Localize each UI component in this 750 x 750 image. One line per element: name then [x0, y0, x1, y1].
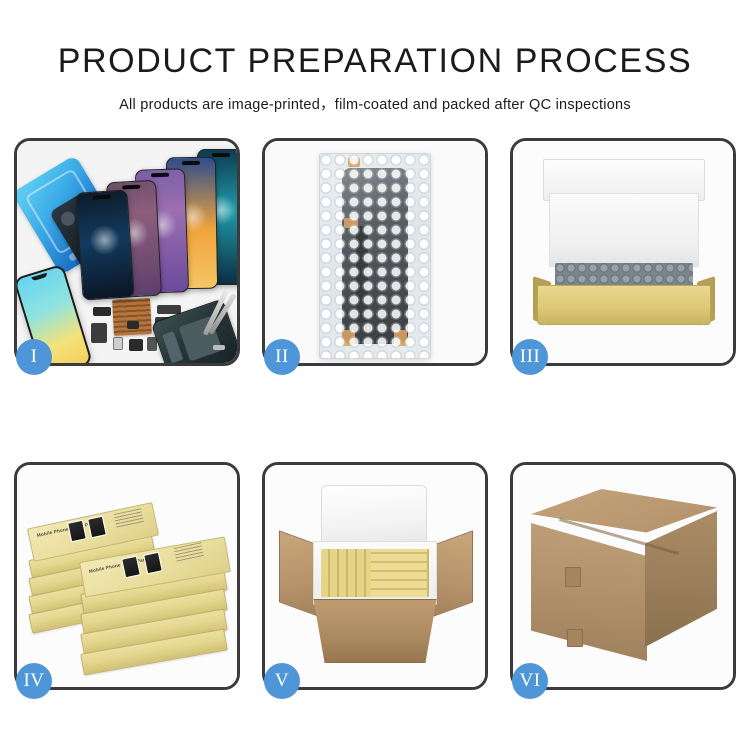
step-panel-6: VI [510, 462, 736, 690]
process-step-grid: I II [14, 138, 736, 690]
page-subtitle: All products are image-printed，film-coat… [0, 93, 750, 114]
step-3-image [513, 141, 733, 363]
step-5-image [265, 465, 485, 687]
step-panel-3: III [510, 138, 736, 366]
step-badge-2: II [264, 339, 300, 375]
box-stack: Mobile Phone Spare Parts Mobile Phone Sp… [25, 489, 231, 671]
stacked-retail-boxes-illustration: Mobile Phone Spare Parts Mobile Phone Sp… [17, 465, 237, 687]
step-badge-1: I [16, 339, 52, 375]
step-4-image: Mobile Phone Spare Parts Mobile Phone Sp… [17, 465, 237, 687]
step-badge-5: V [264, 663, 300, 699]
sealed-carton-illustration [513, 465, 733, 687]
tape-icon-3 [342, 330, 355, 346]
part-connector-icon [93, 307, 111, 316]
sealed-shipping-carton-icon [531, 489, 717, 661]
small-part-icon [127, 321, 139, 329]
sim-tray-icon [113, 337, 123, 350]
carton-right-face [645, 511, 717, 647]
foam-sheet-icon [549, 193, 699, 267]
screen-assembly-icon [342, 168, 408, 344]
open-kraft-box-icon [533, 159, 715, 327]
carton-tape-tab-upper [565, 567, 581, 587]
header: PRODUCT PREPARATION PROCESS All products… [0, 0, 750, 114]
step-1-image [17, 141, 237, 363]
bubble-wrapped-screen-illustration [265, 141, 485, 363]
step-badge-3: III [512, 339, 548, 375]
phone-icon-1 [75, 189, 134, 300]
step-panel-5: V [262, 462, 488, 690]
step-panel-1: I [14, 138, 240, 366]
step-panel-4: Mobile Phone Spare Parts Mobile Phone Sp… [14, 462, 240, 690]
step-panel-2: II [262, 138, 488, 366]
tape-icon-1 [348, 158, 360, 167]
screw-icon [213, 345, 225, 350]
carton-loading-illustration [265, 465, 485, 687]
page-title: PRODUCT PREPARATION PROCESS [0, 42, 750, 81]
carton-tape-tab-lower [567, 629, 583, 647]
step-badge-6: VI [512, 663, 548, 699]
step-6-image [513, 465, 733, 687]
camera-module-icon [129, 339, 143, 351]
open-box-with-foam-illustration [513, 141, 733, 363]
packed-yellow-boxes-icon-2 [371, 549, 427, 597]
carton-front-icon [305, 599, 445, 663]
product-preparation-process-page: PRODUCT PREPARATION PROCESS All products… [0, 0, 750, 750]
circuit-grid-icon [112, 298, 152, 336]
tape-icon-2 [344, 218, 358, 228]
tape-icon-4 [394, 330, 407, 346]
flex-cable-icon-1 [91, 323, 107, 343]
step-badge-4: IV [16, 663, 52, 699]
phone-lineup [79, 149, 237, 299]
bubble-wrap-bag-icon [319, 153, 431, 359]
open-shipping-carton-icon [279, 481, 473, 665]
products-and-parts-illustration [17, 141, 237, 363]
carton-left-face [531, 523, 647, 661]
step-2-image [265, 141, 485, 363]
box-front-icon [537, 285, 711, 325]
foam-lid-icon [321, 485, 427, 549]
